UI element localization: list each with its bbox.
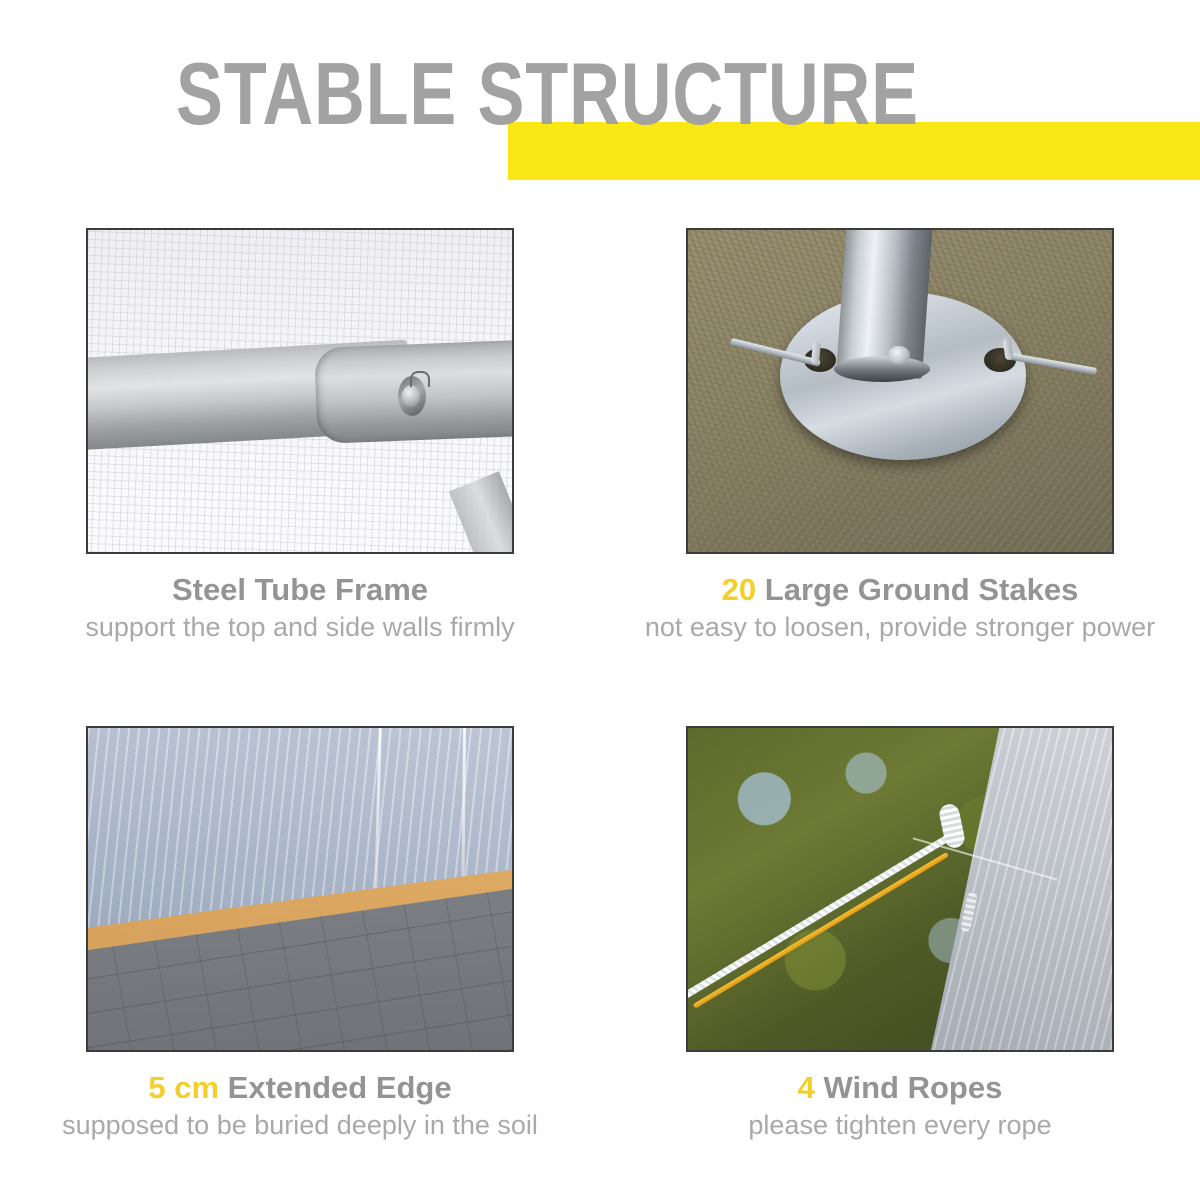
extended-edge-photo: [86, 726, 514, 1052]
caption-subtitle: not easy to loosen, provide stronger pow…: [618, 611, 1182, 644]
caption-title-text: Extended Edge: [228, 1070, 452, 1105]
spring-button-pin: [402, 385, 420, 407]
caption-highlight: 5 cm: [148, 1070, 219, 1105]
tarp-background: [88, 230, 512, 552]
caption: Steel Tube Frame support the top and sid…: [0, 572, 600, 644]
caption-title-text: Steel Tube Frame: [172, 572, 428, 607]
steel-tube-frame-photo: [86, 228, 514, 554]
edge-scene-background: [88, 728, 512, 1050]
caption-title: 4 Wind Ropes: [618, 1070, 1182, 1106]
caption-title: 5 cm Extended Edge: [18, 1070, 582, 1106]
caption-highlight: 4: [798, 1070, 815, 1105]
pole-collar: [834, 356, 930, 382]
wind-ropes-photo: [686, 726, 1114, 1052]
wind-rope: [686, 830, 958, 1001]
ground-stakes-photo: [686, 228, 1114, 554]
caption-subtitle: supposed to be buried deeply in the soil: [18, 1109, 582, 1142]
caption-title: Steel Tube Frame: [18, 572, 582, 608]
caption-subtitle: please tighten every rope: [618, 1109, 1182, 1142]
wind-rope-yellow-strand: [693, 852, 949, 1009]
caption: 20 Large Ground Stakes not easy to loose…: [600, 572, 1200, 644]
dry-grass-background: [688, 230, 1112, 552]
caption-subtitle: support the top and side walls firmly: [18, 611, 582, 644]
feature-card-wind-ropes: 4 Wind Ropes please tighten every rope: [600, 703, 1200, 1200]
infographic-page: STABLE STRUCTURE Steel Tube Frame supp: [0, 0, 1200, 1200]
page-title: STABLE STRUCTURE: [176, 46, 928, 141]
caption: 5 cm Extended Edge supposed to be buried…: [0, 1070, 600, 1142]
caption: 4 Wind Ropes please tighten every rope: [600, 1070, 1200, 1142]
pin-retainer-hook: [410, 371, 430, 387]
caption-title-text: Wind Ropes: [824, 1070, 1003, 1105]
pole-bolt: [888, 346, 910, 364]
tarp-corner: [912, 726, 1114, 1052]
tree-foliage-background: [688, 728, 1112, 1050]
feature-card-extended-edge: 5 cm Extended Edge supposed to be buried…: [0, 703, 600, 1200]
caption-highlight: 20: [722, 572, 756, 607]
steel-tube-tail: [449, 471, 514, 554]
header: STABLE STRUCTURE: [0, 0, 1200, 205]
caption-title: 20 Large Ground Stakes: [618, 572, 1182, 608]
caption-title-text: Large Ground Stakes: [765, 572, 1079, 607]
feature-grid: Steel Tube Frame support the top and sid…: [0, 205, 1200, 1200]
feature-card-steel-tube-frame: Steel Tube Frame support the top and sid…: [0, 205, 600, 703]
feature-card-ground-stakes: 20 Large Ground Stakes not easy to loose…: [600, 205, 1200, 703]
